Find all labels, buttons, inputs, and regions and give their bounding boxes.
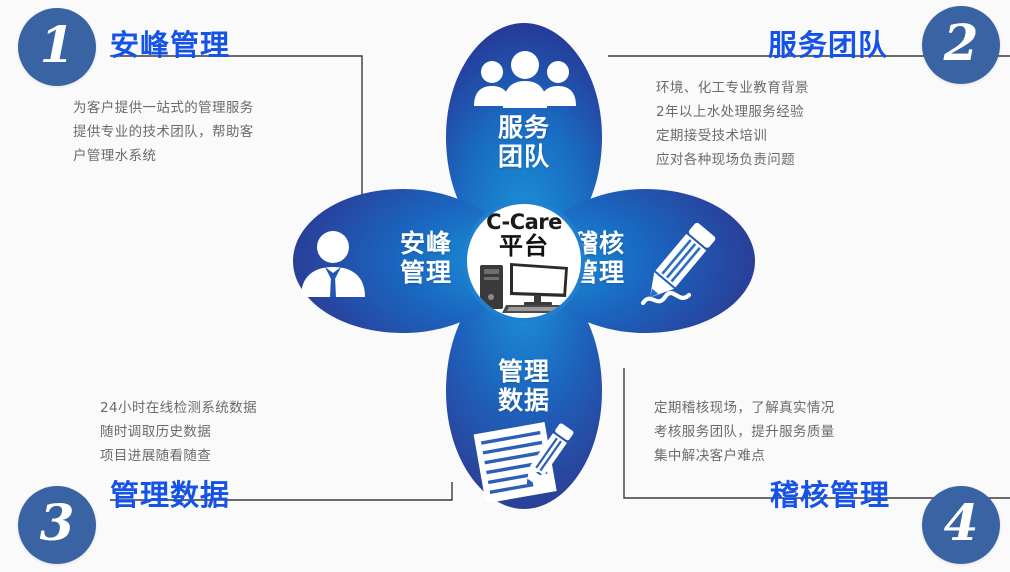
section-1-line-2: 提供专业的技术团队，帮助客 [73, 120, 254, 144]
step-badge-3-number: 3 [40, 498, 75, 548]
petal-label-anfeng-line-2: 管理 [378, 258, 474, 287]
step-badge-1-number: 1 [40, 20, 75, 70]
section-title-4: 稽核管理 [770, 472, 890, 514]
desktop-computer-icon [476, 259, 572, 315]
step-badge-1: 1 [18, 8, 96, 86]
step-badge-2: 2 [922, 6, 1000, 84]
petal-label-service-team-line-2: 团队 [474, 142, 574, 171]
section-3-line-2: 随时调取历史数据 [100, 420, 257, 444]
section-3-line-3: 项目进展随看随查 [100, 444, 257, 468]
clipboard-pencil-icon [469, 420, 581, 502]
petal-label-service-team: 服务 团队 [474, 113, 574, 171]
section-title-3: 管理数据 [110, 472, 230, 514]
people-group-icon [470, 50, 580, 112]
section-1-line-3: 户管理水系统 [73, 144, 254, 168]
businessman-icon [295, 227, 371, 301]
petal-label-data-line-1: 管理 [474, 357, 574, 386]
step-badge-3: 3 [18, 486, 96, 564]
petal-label-service-team-line-1: 服务 [474, 113, 574, 142]
section-1-line-1: 为客户提供一站式的管理服务 [73, 96, 254, 120]
section-3-line-1: 24小时在线检测系统数据 [100, 396, 257, 420]
section-title-2: 服务团队 [768, 22, 888, 64]
hub-brand: C-Care [486, 212, 562, 233]
flower-diagram: 服务 团队 安峰 管理 [255, 5, 775, 530]
pencil-icon [635, 217, 727, 317]
petal-label-management-data: 管理 数据 [474, 357, 574, 415]
center-hub: C-Care 平台 [463, 200, 585, 322]
section-body-1: 为客户提供一站式的管理服务 提供专业的技术团队，帮助客 户管理水系统 [73, 96, 254, 168]
section-body-3: 24小时在线检测系统数据 随时调取历史数据 项目进展随看随查 [100, 396, 257, 468]
section-title-1: 安峰管理 [110, 22, 230, 64]
infographic-canvas: 1 2 3 4 安峰管理 服务团队 管理数据 稽核管理 为客户提供一站式的管理服… [0, 0, 1010, 572]
step-badge-2-number: 2 [944, 18, 979, 68]
petal-label-anfeng-line-1: 安峰 [378, 229, 474, 258]
petal-label-anfeng-management: 安峰 管理 [378, 229, 474, 287]
step-badge-4: 4 [922, 486, 1000, 564]
petal-label-data-line-2: 数据 [474, 386, 574, 415]
hub-brand-cn: 平台 [499, 234, 549, 258]
step-badge-4-number: 4 [944, 498, 979, 548]
